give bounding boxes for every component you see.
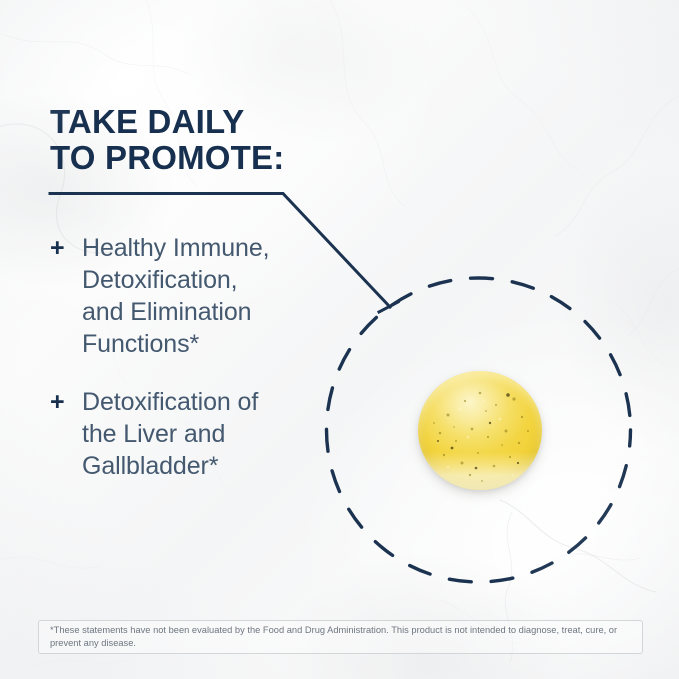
disclaimer-text: *These statements have not been evaluate…	[39, 624, 642, 650]
product-infographic: TAKE DAILY TO PROMOTE: + Healthy Immune,…	[0, 0, 679, 679]
edge-vignette	[0, 0, 679, 679]
disclaimer-box: *These statements have not been evaluate…	[38, 620, 643, 654]
